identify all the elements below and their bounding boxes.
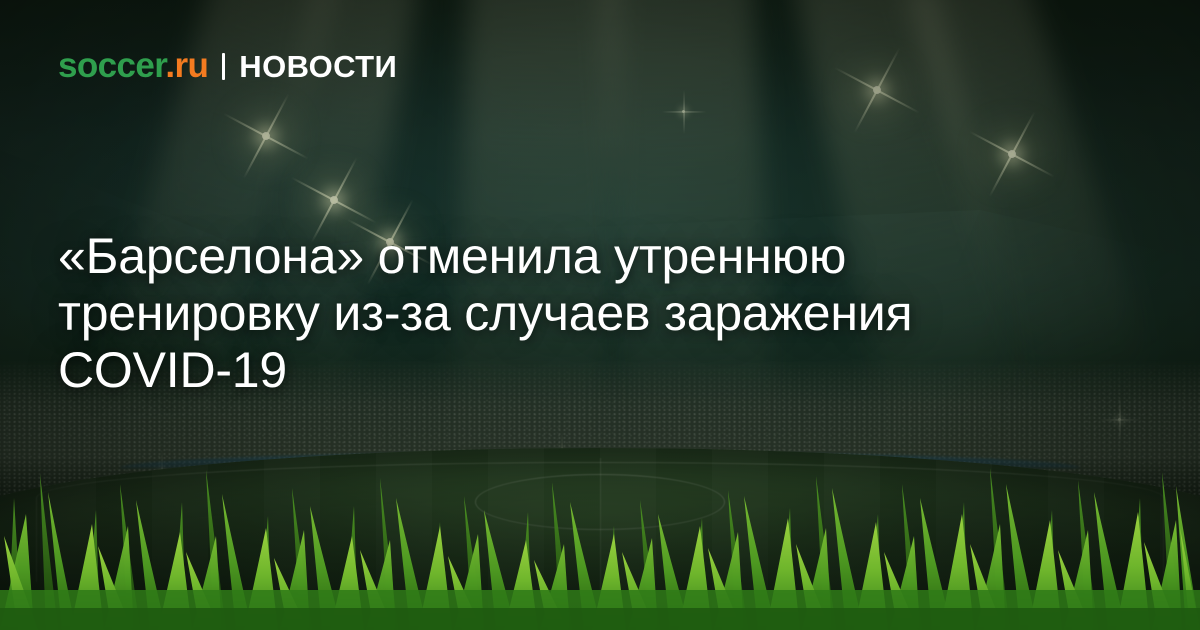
soccer-ru-logo[interactable]: soccer.ru xyxy=(58,48,208,83)
logo-word-ru: .ru xyxy=(165,46,208,85)
brand-bar[interactable]: soccer.ru НОВОСТИ xyxy=(58,48,397,83)
brand-separator-icon xyxy=(222,53,225,80)
logo-word-soccer: soccer xyxy=(58,46,165,85)
headline-line-2: тренировку из-за случаев заражения xyxy=(58,285,1068,342)
section-label: НОВОСТИ xyxy=(239,51,397,82)
foreground-grass xyxy=(0,440,1200,630)
page-title: «Барселона» отменила утреннюю тренировку… xyxy=(58,228,1068,399)
headline-line-3: COVID-19 xyxy=(58,342,1068,399)
headline-line-1: «Барселона» отменила утреннюю xyxy=(58,228,1068,285)
news-share-card: soccer.ru НОВОСТИ «Барселона» отменила у… xyxy=(0,0,1200,630)
